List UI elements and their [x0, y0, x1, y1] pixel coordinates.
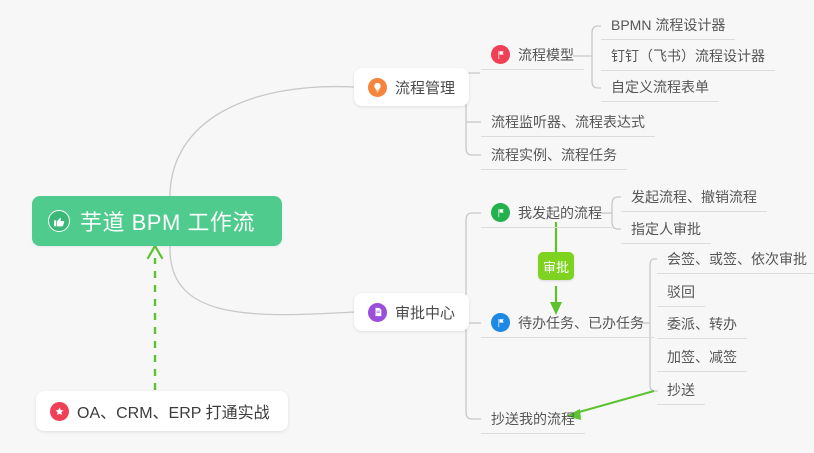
node-label-my-started-flows: 我发起的流程 — [518, 203, 602, 223]
edge-flowmodel-spine — [592, 26, 601, 88]
node-label-countersign-or-sequential: 会签、或签、依次审批 — [667, 249, 807, 269]
node-label-dingtalk-feishu-designer: 钉钉（飞书）流程设计器 — [611, 46, 765, 66]
node-add-remove-sign[interactable]: 加签、减签 — [657, 342, 747, 372]
edge-root-to-approval-center — [170, 246, 354, 315]
node-label-flow-model: 流程模型 — [518, 45, 574, 65]
node-reject[interactable]: 驳回 — [657, 277, 705, 307]
node-bpmn-designer[interactable]: BPMN 流程设计器 — [601, 10, 735, 40]
branch-label-flow-management: 流程管理 — [395, 77, 455, 98]
document-icon — [368, 303, 387, 322]
node-flow-listener-expression[interactable]: 流程监听器、流程表达式 — [481, 107, 655, 137]
root-label: 芋道 BPM 工作流 — [80, 205, 255, 237]
node-assignee-approval[interactable]: 指定人审批 — [621, 214, 711, 244]
node-label-cc: 抄送 — [667, 380, 695, 400]
node-flow-instance-task[interactable]: 流程实例、流程任务 — [481, 140, 627, 170]
node-label-add-remove-sign: 加签、减签 — [667, 347, 737, 367]
node-custom-flow-form[interactable]: 自定义流程表单 — [601, 72, 719, 102]
node-label-flow-instance-task: 流程实例、流程任务 — [491, 145, 617, 165]
node-start-cancel-flow[interactable]: 发起流程、撤销流程 — [621, 182, 767, 212]
node-label-start-cancel-flow: 发起流程、撤销流程 — [631, 187, 757, 207]
branch-label-approval-center: 审批中心 — [395, 302, 455, 323]
thumbs-up-icon — [48, 210, 70, 232]
floating-node-label-integration-practice: OA、CRM、ERP 打通实战 — [77, 399, 270, 423]
node-cc[interactable]: 抄送 — [657, 375, 705, 405]
node-todo-done-tasks[interactable]: 待办任务、已办任务 — [481, 308, 654, 338]
floating-node-integration-practice[interactable]: OA、CRM、ERP 打通实战 — [36, 391, 288, 431]
node-flow-model[interactable]: 流程模型 — [481, 40, 584, 70]
node-label-reject: 驳回 — [667, 282, 695, 302]
flag-icon — [491, 45, 510, 64]
node-label-delegate-transfer: 委派、转办 — [667, 314, 737, 334]
approval-tag[interactable]: 审批 — [538, 252, 574, 280]
edge-mystarted-spine — [612, 197, 621, 229]
node-cc-to-me-flows[interactable]: 抄送我的流程 — [481, 404, 585, 434]
node-countersign-or-sequential[interactable]: 会签、或签、依次审批 — [657, 244, 814, 274]
annotation-integration-arrowhead — [148, 246, 162, 258]
node-delegate-transfer[interactable]: 委派、转办 — [657, 309, 747, 339]
node-label-cc-to-me-flows: 抄送我的流程 — [491, 409, 575, 429]
node-dingtalk-feishu-designer[interactable]: 钉钉（飞书）流程设计器 — [601, 41, 775, 71]
flag-icon — [491, 203, 510, 222]
approval-tag-label: 审批 — [543, 257, 569, 276]
node-label-todo-done-tasks: 待办任务、已办任务 — [518, 313, 644, 333]
node-label-bpmn-designer: BPMN 流程设计器 — [611, 15, 725, 35]
root-node[interactable]: 芋道 BPM 工作流 — [32, 196, 282, 246]
node-label-flow-listener-expression: 流程监听器、流程表达式 — [491, 112, 645, 132]
mindmap-canvas: 芋道 BPM 工作流 流程管理 流程模型 BPMN 流程设计器 钉钉（飞书）流程… — [0, 0, 814, 453]
flag-icon — [491, 313, 510, 332]
lightbulb-icon — [368, 78, 387, 97]
star-icon — [50, 402, 69, 421]
branch-node-approval-center[interactable]: 审批中心 — [354, 293, 469, 331]
node-my-started-flows[interactable]: 我发起的流程 — [481, 198, 612, 228]
node-label-custom-flow-form: 自定义流程表单 — [611, 77, 709, 97]
edge-root-to-flow-management — [170, 87, 354, 200]
branch-node-flow-management[interactable]: 流程管理 — [354, 68, 469, 106]
node-label-assignee-approval: 指定人审批 — [631, 219, 701, 239]
